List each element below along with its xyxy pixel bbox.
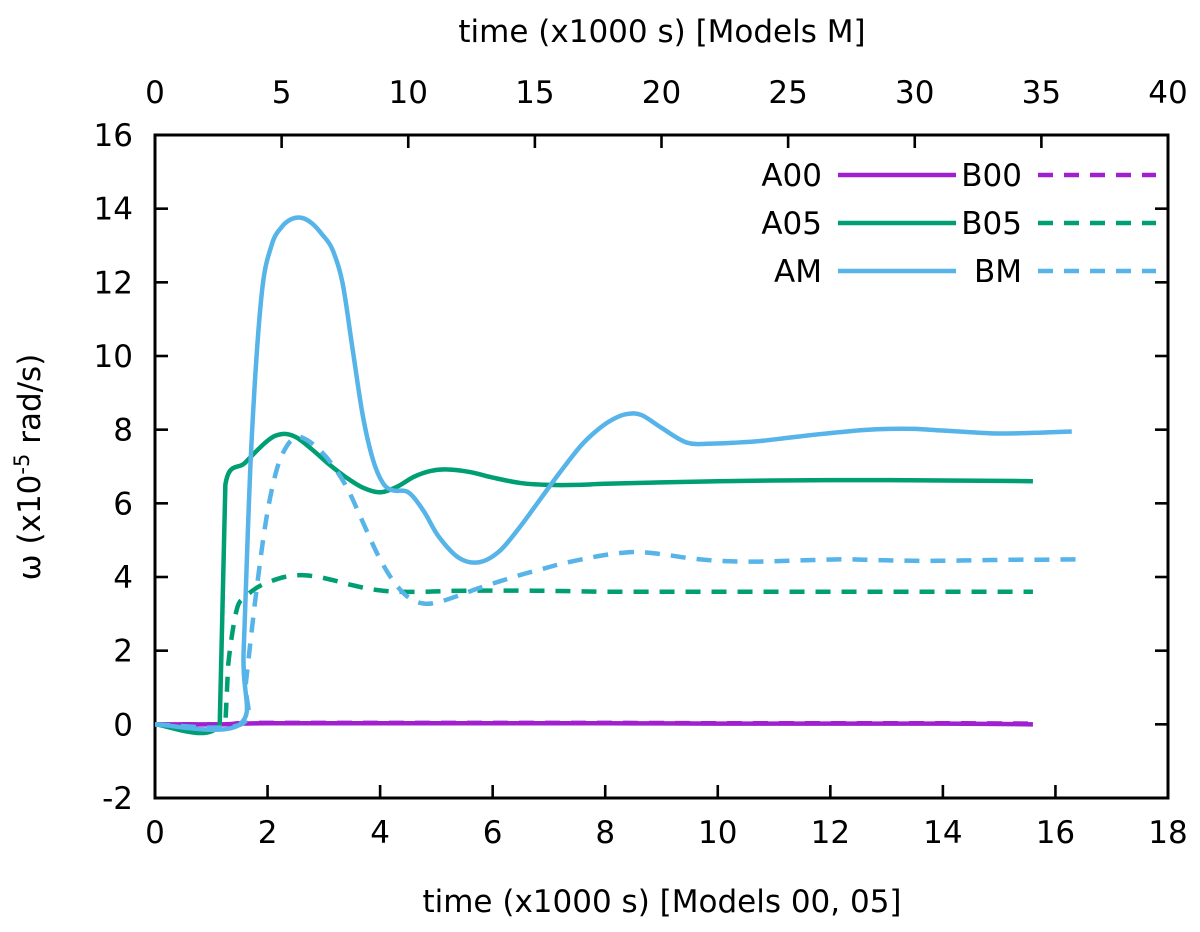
top-axis-tick-labels: 0510152025303540 (145, 75, 1188, 111)
bottom-tick-label: 18 (1148, 815, 1187, 851)
y-tick-label: 4 (113, 560, 133, 596)
legend-label-b05: B05 (961, 206, 1022, 242)
top-tick-label: 20 (642, 75, 681, 111)
series-line-a05 (155, 434, 1033, 733)
top-tick-label: 15 (515, 75, 554, 111)
bottom-axis-title: time (x1000 s) [Models 00, 05] (422, 884, 901, 920)
y-tick-label: 8 (113, 413, 133, 449)
legend-label-am: AM (774, 254, 822, 290)
y-axis-tick-labels: -20246810121416 (94, 118, 133, 817)
bottom-tick-label: 16 (1036, 815, 1075, 851)
y-tick-label: 2 (113, 634, 133, 670)
top-tick-label: 40 (1148, 75, 1187, 111)
top-tick-label: 30 (895, 75, 934, 111)
y-tick-label: 12 (94, 265, 133, 301)
top-tick-label: 35 (1022, 75, 1061, 111)
top-tick-label: 10 (389, 75, 428, 111)
y-tick-label: 10 (94, 339, 133, 375)
bottom-tick-label: 0 (145, 815, 165, 851)
y-axis-exponent: -5 (10, 454, 34, 475)
y-axis-symbol: ω (12, 554, 48, 580)
bottom-tick-label: 14 (923, 815, 962, 851)
bottom-axis-tick-labels: 024681012141618 (145, 815, 1188, 851)
y-axis-title: ω (x10-5 rad/s) (10, 354, 48, 581)
series-group (155, 217, 1077, 733)
bottom-tick-label: 12 (811, 815, 850, 851)
series-line-am (155, 217, 1072, 729)
y-tick-label: 0 (113, 707, 133, 743)
top-tick-label: 25 (768, 75, 807, 111)
legend-label-a00: A00 (761, 158, 822, 194)
svg-text:ω (x10-5 rad/s): ω (x10-5 rad/s) (10, 354, 48, 581)
top-axis-title: time (x1000 s) [Models M] (458, 14, 865, 50)
bottom-tick-label: 2 (258, 815, 278, 851)
y-tick-label: 14 (94, 192, 133, 228)
top-tick-label: 0 (145, 75, 165, 111)
y-tick-label: -2 (102, 781, 133, 817)
top-tick-label: 5 (272, 75, 292, 111)
y-tick-label: 6 (113, 486, 133, 522)
bottom-tick-label: 6 (483, 815, 503, 851)
bottom-tick-label: 4 (370, 815, 390, 851)
series-line-b05 (155, 575, 1033, 729)
bottom-tick-label: 8 (595, 815, 615, 851)
y-axis-prefix: (x10 (12, 475, 48, 555)
chart-legend: A00B00A05B05AMBM (761, 158, 1156, 290)
legend-label-b00: B00 (961, 158, 1022, 194)
y-axis-suffix: rad/s) (12, 354, 48, 454)
chart-figure: time (x1000 s) [Models M] 05101520253035… (0, 0, 1200, 932)
bottom-tick-label: 10 (698, 815, 737, 851)
y-tick-label: 16 (94, 118, 133, 154)
legend-label-bm: BM (974, 254, 1022, 290)
legend-label-a05: A05 (761, 206, 822, 242)
omega-vs-time-line-chart: time (x1000 s) [Models M] 05101520253035… (0, 0, 1200, 932)
